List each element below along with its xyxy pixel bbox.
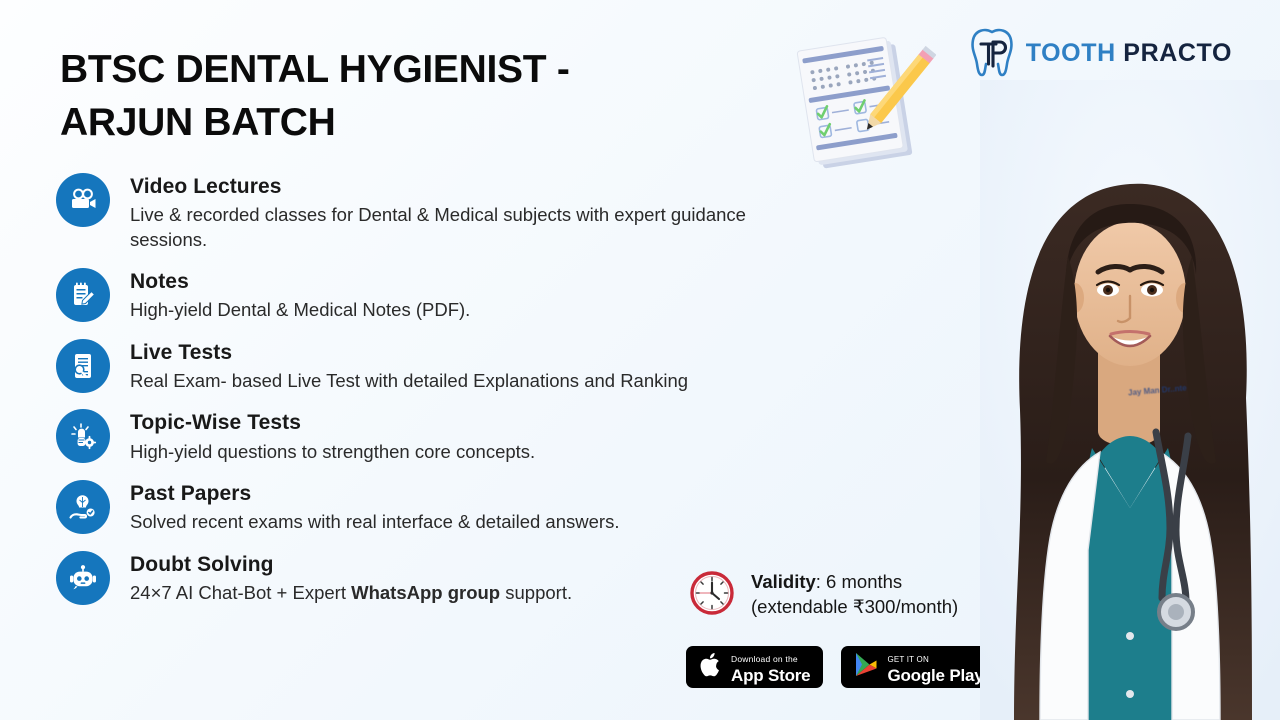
app-store-title: App Store [731, 666, 810, 685]
chatbot-robot-icon [56, 551, 110, 605]
desc-post: support. [500, 582, 572, 603]
hand-gear-idea-icon [56, 409, 110, 463]
feature-description: High-yield Dental & Medical Notes (PDF). [130, 298, 470, 322]
desc-pre: 24×7 AI Chat-Bot + Expert [130, 582, 351, 603]
store-badges: Download on the App Store GET IT ON Goog… [686, 646, 997, 688]
feature-title: Video Lectures [130, 174, 820, 200]
app-store-button[interactable]: Download on the App Store [686, 646, 823, 688]
validity-text: Validity: 6 months (extendable ₹300/mont… [751, 570, 958, 619]
feature-title: Notes [130, 269, 470, 295]
feature-item-video-lectures: Video Lectures Live & recorded classes f… [56, 172, 876, 252]
brand-name-part1: TOOTH [1026, 39, 1116, 67]
feature-list: Video Lectures Live & recorded classes f… [56, 172, 876, 620]
brand-name-part2: PRACTO [1123, 39, 1232, 67]
tooth-tp-monogram-icon [969, 28, 1015, 78]
alarm-clock-icon [686, 566, 738, 623]
desc-highlight: WhatsApp group [351, 582, 500, 603]
page-title: BTSC DENTAL HYGIENIST - ARJUN BATCH [60, 43, 700, 150]
google-play-title: Google Play [887, 666, 983, 685]
feature-title: Topic-Wise Tests [130, 410, 535, 436]
feature-description: Real Exam- based Live Test with detailed… [130, 369, 688, 393]
document-magnifier-icon [56, 339, 110, 393]
google-play-subtitle: GET IT ON [887, 655, 929, 664]
feature-item-past-papers: Past Papers Solved recent exams with rea… [56, 479, 876, 535]
google-play-button[interactable]: GET IT ON Google Play [841, 646, 996, 688]
feature-title: Live Tests [130, 340, 688, 366]
feature-title: Doubt Solving [130, 552, 572, 578]
validity-block: Validity: 6 months (extendable ₹300/mont… [686, 566, 958, 623]
feature-item-live-tests: Live Tests Real Exam- based Live Test wi… [56, 338, 876, 394]
feature-item-topic-wise-tests: Topic-Wise Tests High-yield questions to… [56, 408, 876, 464]
feature-description: 24×7 AI Chat-Bot + Expert WhatsApp group… [130, 581, 572, 605]
female-dentist-photo: Jay Man Dr..nte [980, 80, 1280, 720]
video-camera-icon [56, 173, 110, 227]
google-play-logo-icon [854, 651, 879, 683]
brand-logo: TOOTH PRACTO [969, 28, 1232, 78]
exam-answer-sheet-with-pencil-illustration [786, 32, 936, 177]
brand-name: TOOTH PRACTO [1026, 39, 1232, 68]
feature-description: Solved recent exams with real interface … [130, 510, 619, 534]
validity-label: Validity [751, 571, 816, 592]
feature-description: Live & recorded classes for Dental & Med… [130, 203, 820, 252]
feature-title: Past Papers [130, 481, 619, 507]
feature-item-notes: Notes High-yield Dental & Medical Notes … [56, 267, 876, 323]
notepad-pencil-icon [56, 268, 110, 322]
validity-value: : 6 months [816, 571, 902, 592]
apple-logo-icon [699, 651, 723, 684]
app-store-subtitle: Download on the [731, 654, 798, 664]
validity-note: (extendable ₹300/month) [751, 595, 958, 620]
hand-lightbulb-check-icon [56, 480, 110, 534]
feature-description: High-yield questions to strengthen core … [130, 440, 535, 464]
